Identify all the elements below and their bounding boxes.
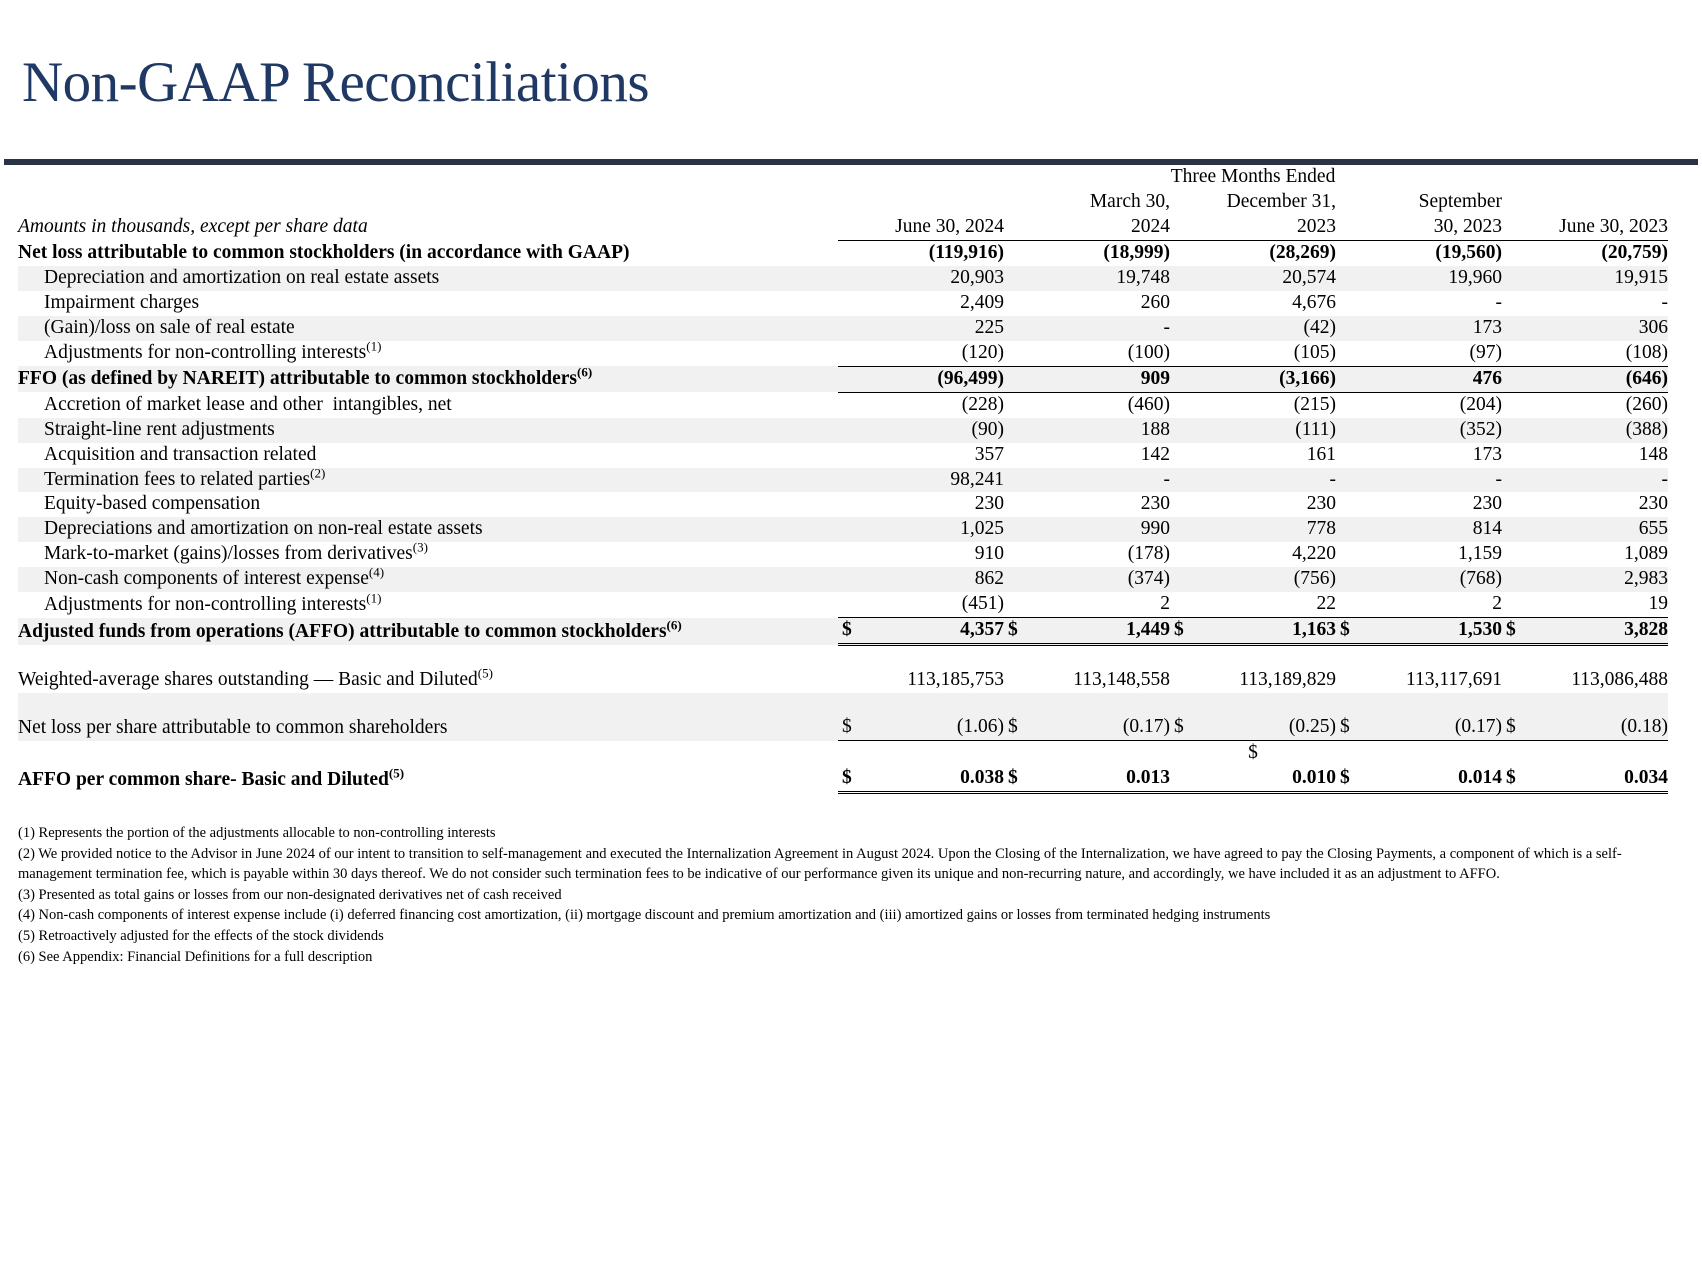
spacer-row <box>18 645 1668 669</box>
value: 0.010 <box>1292 766 1336 791</box>
cell-r10-c5: - <box>1502 468 1668 493</box>
dollar-sign: $ <box>1004 715 1018 740</box>
cell-r9-c4: 173 <box>1336 443 1502 468</box>
table-row: Accretion of market lease and other inta… <box>18 392 1668 417</box>
cell-r10-c2: - <box>1004 468 1170 493</box>
wavg-c4: 113,117,691 <box>1336 668 1502 693</box>
cell-r14-c5: 2,983 <box>1502 567 1668 592</box>
row-label: Depreciations and amortization on non-re… <box>18 517 838 542</box>
cell-r11-c3: 230 <box>1170 492 1336 517</box>
cell-r11-c2: 230 <box>1004 492 1170 517</box>
cell-r4-c1: 225 <box>838 316 1004 341</box>
cell-r8-c1: (90) <box>838 418 1004 443</box>
value: 0.038 <box>960 766 1004 791</box>
row-label: Equity-based compensation <box>18 492 838 517</box>
footnote-marker: (3) <box>413 540 428 555</box>
cell-r9-c1: 357 <box>838 443 1004 468</box>
cell-r2-c1: 20,903 <box>838 266 1004 291</box>
value: 1,163 <box>1292 618 1336 643</box>
column-header-5: June 30, 2023 <box>1502 190 1668 240</box>
table-row: Acquisition and transaction related35714… <box>18 443 1668 468</box>
cell-r8-c3: (111) <box>1170 418 1336 443</box>
cell-r3-c4: - <box>1336 291 1502 316</box>
floating-dollar-row: $ <box>18 741 1668 766</box>
value: (0.17) <box>1123 715 1170 740</box>
affo-total-c1: $4,357 <box>838 618 1004 645</box>
nlps-label: Net loss per share attributable to commo… <box>18 715 838 740</box>
dollar-sign: $ <box>1502 766 1516 791</box>
cell-r5-c3: (105) <box>1170 341 1336 366</box>
dollar-sign: $ <box>1170 715 1184 740</box>
nlps-c3: $(0.25) <box>1170 715 1336 740</box>
cell-r7-c2: (460) <box>1004 392 1170 417</box>
nlps-c1: $(1.06) <box>838 715 1004 740</box>
footnote-marker: (6) <box>667 617 682 632</box>
row-label: Adjustments for non-controlling interest… <box>18 341 838 366</box>
cell-r15-c5: 19 <box>1502 592 1668 617</box>
dollar-sign: $ <box>1336 715 1350 740</box>
net-loss-per-share-row: Net loss per share attributable to commo… <box>18 715 1668 740</box>
cell-r7-c3: (215) <box>1170 392 1336 417</box>
row-label: Straight-line rent adjustments <box>18 418 838 443</box>
column-header-row: Amounts in thousands, except per share d… <box>18 190 1668 240</box>
cell-r15-c2: 2 <box>1004 592 1170 617</box>
nlps-c2: $(0.17) <box>1004 715 1170 740</box>
table-row: Impairment charges2,4092604,676-- <box>18 291 1668 316</box>
table-row: Depreciation and amortization on real es… <box>18 266 1668 291</box>
value: 0.034 <box>1624 766 1668 791</box>
cell-r8-c5: (388) <box>1502 418 1668 443</box>
cell-r6-c3: (3,166) <box>1170 366 1336 392</box>
cell-r11-c1: 230 <box>838 492 1004 517</box>
floating-dollar-blank <box>838 741 1004 766</box>
table-row: Termination fees to related parties(2)98… <box>18 468 1668 493</box>
footnote-3: (3) Presented as total gains or losses f… <box>18 886 1678 906</box>
span-header-row: Three Months Ended <box>18 165 1668 190</box>
cell-r3-c5: - <box>1502 291 1668 316</box>
affo-per-share-row: AFFO per common share- Basic and Diluted… <box>18 766 1668 792</box>
floating-dollar-blank <box>1502 741 1668 766</box>
cell-r6-c5: (646) <box>1502 366 1668 392</box>
cell-r3-c2: 260 <box>1004 291 1170 316</box>
nlps-c4: $(0.17) <box>1336 715 1502 740</box>
cell-r4-c4: 173 <box>1336 316 1502 341</box>
row-label: Mark-to-market (gains)/losses from deriv… <box>18 542 838 567</box>
footnotes-block: (1) Represents the portion of the adjust… <box>18 824 1678 968</box>
table-row: FFO (as defined by NAREIT) attributable … <box>18 366 1668 392</box>
cell-r1-c3: (28,269) <box>1170 240 1336 265</box>
cell-r4-c2: - <box>1004 316 1170 341</box>
cell-r14-c3: (756) <box>1170 567 1336 592</box>
cell-r7-c1: (228) <box>838 392 1004 417</box>
value: 0.014 <box>1458 766 1502 791</box>
footnote-marker: (1) <box>366 590 381 605</box>
row-label: Depreciation and amortization on real es… <box>18 266 838 291</box>
footnote-marker: (6) <box>577 365 592 380</box>
cell-r12-c1: 1,025 <box>838 517 1004 542</box>
affops-c1: $0.038 <box>838 766 1004 792</box>
footnote-marker: (2) <box>310 465 325 480</box>
cell-r10-c1: 98,241 <box>838 468 1004 493</box>
spacer-cell <box>18 645 838 669</box>
floating-dollar-sign: $ <box>1170 741 1336 766</box>
cell-r5-c2: (100) <box>1004 341 1170 366</box>
cell-r13-c5: 1,089 <box>1502 542 1668 567</box>
cell-r14-c1: 862 <box>838 567 1004 592</box>
spacer-cell <box>838 693 1668 715</box>
cell-r12-c4: 814 <box>1336 517 1502 542</box>
dollar-sign: $ <box>1170 618 1184 643</box>
cell-r10-c3: - <box>1170 468 1336 493</box>
row-label: Non-cash components of interest expense(… <box>18 567 838 592</box>
cell-r15-c1: (451) <box>838 592 1004 617</box>
affo-total-c4: $1,530 <box>1336 618 1502 645</box>
cell-r11-c4: 230 <box>1336 492 1502 517</box>
value: (0.25) <box>1289 715 1336 740</box>
dollar-sign: $ <box>1336 766 1350 791</box>
dollar-sign: $ <box>1502 618 1516 643</box>
dollar-sign: $ <box>1502 715 1516 740</box>
span-header-three-months-ended: Three Months Ended <box>838 165 1668 190</box>
cell-r2-c5: 19,915 <box>1502 266 1668 291</box>
row-label: Termination fees to related parties(2) <box>18 468 838 493</box>
cell-r10-c4: - <box>1336 468 1502 493</box>
table-row: Straight-line rent adjustments(90)188(11… <box>18 418 1668 443</box>
wavg-label: Weighted-average shares outstanding — Ba… <box>18 668 838 693</box>
cell-r9-c5: 148 <box>1502 443 1668 468</box>
cell-r7-c5: (260) <box>1502 392 1668 417</box>
cell-r1-c2: (18,999) <box>1004 240 1170 265</box>
cell-r13-c1: 910 <box>838 542 1004 567</box>
dollar-sign: $ <box>1004 618 1018 643</box>
wavg-c2: 113,148,558 <box>1004 668 1170 693</box>
cell-r14-c4: (768) <box>1336 567 1502 592</box>
dollar-sign: $ <box>838 766 852 791</box>
spacer-row-shaded <box>18 693 1668 715</box>
cell-r5-c5: (108) <box>1502 341 1668 366</box>
footnote-marker: (4) <box>369 565 384 580</box>
cell-r2-c3: 20,574 <box>1170 266 1336 291</box>
cell-r6-c2: 909 <box>1004 366 1170 392</box>
value: (1.06) <box>957 715 1004 740</box>
table-row: Mark-to-market (gains)/losses from deriv… <box>18 542 1668 567</box>
column-header-1: June 30, 2024 <box>838 190 1004 240</box>
row-label: Acquisition and transaction related <box>18 443 838 468</box>
value: 0.013 <box>1126 766 1170 791</box>
cell-r13-c2: (178) <box>1004 542 1170 567</box>
row-label: Impairment charges <box>18 291 838 316</box>
affops-c3: 0.010 <box>1170 766 1336 792</box>
cell-r13-c3: 4,220 <box>1170 542 1336 567</box>
affo-total-c5: $3,828 <box>1502 618 1668 645</box>
non-gaap-reconciliation-table: Three Months EndedAmounts in thousands, … <box>18 165 1668 794</box>
units-note: Amounts in thousands, except per share d… <box>18 190 838 240</box>
cell-r9-c3: 161 <box>1170 443 1336 468</box>
cell-r6-c1: (96,499) <box>838 366 1004 392</box>
affops-c4: $0.014 <box>1336 766 1502 792</box>
nlps-c5: $(0.18) <box>1502 715 1668 740</box>
affo-total-label: Adjusted funds from operations (AFFO) at… <box>18 618 838 645</box>
footnote-6: (6) See Appendix: Financial Definitions … <box>18 948 1678 968</box>
row-label: Net loss attributable to common stockhol… <box>18 240 838 265</box>
cell-r5-c4: (97) <box>1336 341 1502 366</box>
value: 1,449 <box>1126 618 1170 643</box>
row-label: Adjustments for non-controlling interest… <box>18 592 838 617</box>
cell-r12-c2: 990 <box>1004 517 1170 542</box>
cell-r8-c2: 188 <box>1004 418 1170 443</box>
affo-total-c2: $1,449 <box>1004 618 1170 645</box>
footnote-marker: (5) <box>389 765 404 780</box>
cell-r5-c1: (120) <box>838 341 1004 366</box>
cell-r3-c1: 2,409 <box>838 291 1004 316</box>
footnote-marker: (1) <box>366 339 381 354</box>
affops-c2: $0.013 <box>1004 766 1170 792</box>
row-label: Accretion of market lease and other inta… <box>18 392 838 417</box>
spacer-cell <box>18 693 838 715</box>
value: 1,530 <box>1458 618 1502 643</box>
wavg-c5: 113,086,488 <box>1502 668 1668 693</box>
affops-c5: $0.034 <box>1502 766 1668 792</box>
cell-r1-c4: (19,560) <box>1336 240 1502 265</box>
table-row: Non-cash components of interest expense(… <box>18 567 1668 592</box>
footnote-marker: (5) <box>478 666 493 681</box>
footnote-1: (1) Represents the portion of the adjust… <box>18 824 1678 844</box>
affo-total-row: Adjusted funds from operations (AFFO) at… <box>18 618 1668 645</box>
cell-r1-c5: (20,759) <box>1502 240 1668 265</box>
cell-r12-c3: 778 <box>1170 517 1336 542</box>
wavg-c1: 113,185,753 <box>838 668 1004 693</box>
page-title: Non-GAAP Reconciliations <box>0 38 1702 121</box>
cell-r13-c4: 1,159 <box>1336 542 1502 567</box>
column-header-3: December 31,2023 <box>1170 190 1336 240</box>
cell-r11-c5: 230 <box>1502 492 1668 517</box>
dollar-sign: $ <box>1004 766 1018 791</box>
footnote-4: (4) Non-cash components of interest expe… <box>18 906 1678 926</box>
table-row: Adjustments for non-controlling interest… <box>18 592 1668 617</box>
cell-r12-c5: 655 <box>1502 517 1668 542</box>
footnote-5: (5) Retroactively adjusted for the effec… <box>18 927 1678 947</box>
cell-r14-c2: (374) <box>1004 567 1170 592</box>
value: 4,357 <box>960 618 1004 643</box>
row-label: FFO (as defined by NAREIT) attributable … <box>18 366 838 392</box>
cell-r3-c3: 4,676 <box>1170 291 1336 316</box>
cell-r8-c4: (352) <box>1336 418 1502 443</box>
wavg-c3: 113,189,829 <box>1170 668 1336 693</box>
table-row: Adjustments for non-controlling interest… <box>18 341 1668 366</box>
footnote-2: (2) We provided notice to the Advisor in… <box>18 845 1678 885</box>
table-row: Net loss attributable to common stockhol… <box>18 240 1668 265</box>
floating-dollar-blank <box>1336 741 1502 766</box>
cell-r15-c3: 22 <box>1170 592 1336 617</box>
cell-r9-c2: 142 <box>1004 443 1170 468</box>
table-row: Equity-based compensation230230230230230 <box>18 492 1668 517</box>
value: (0.18) <box>1621 715 1668 740</box>
table-row: (Gain)/loss on sale of real estate225-(4… <box>18 316 1668 341</box>
cell-r1-c1: (119,916) <box>838 240 1004 265</box>
column-header-4: September30, 2023 <box>1336 190 1502 240</box>
cell-r4-c3: (42) <box>1170 316 1336 341</box>
dollar-sign: $ <box>1336 618 1350 643</box>
row-label: (Gain)/loss on sale of real estate <box>18 316 838 341</box>
spacer-cell <box>838 645 1668 669</box>
cell-r7-c4: (204) <box>1336 392 1502 417</box>
cell-r2-c2: 19,748 <box>1004 266 1170 291</box>
floating-dollar-blank <box>1004 741 1170 766</box>
weighted-average-shares-row: Weighted-average shares outstanding — Ba… <box>18 668 1668 693</box>
value: (0.17) <box>1455 715 1502 740</box>
affo-total-c3: $1,163 <box>1170 618 1336 645</box>
span-header-blank <box>18 165 838 190</box>
dollar-sign: $ <box>838 618 852 643</box>
column-header-2: March 30,2024 <box>1004 190 1170 240</box>
value: 3,828 <box>1624 618 1668 643</box>
affops-label: AFFO per common share- Basic and Diluted… <box>18 766 838 792</box>
cell-r2-c4: 19,960 <box>1336 266 1502 291</box>
table-row: Depreciations and amortization on non-re… <box>18 517 1668 542</box>
cell-r6-c4: 476 <box>1336 366 1502 392</box>
slide-page: Non-GAAP Reconciliations Three Months En… <box>0 38 1702 1269</box>
cell-r15-c4: 2 <box>1336 592 1502 617</box>
cell-r4-c5: 306 <box>1502 316 1668 341</box>
floating-dollar-blank <box>18 741 838 766</box>
dollar-sign: $ <box>838 715 852 740</box>
